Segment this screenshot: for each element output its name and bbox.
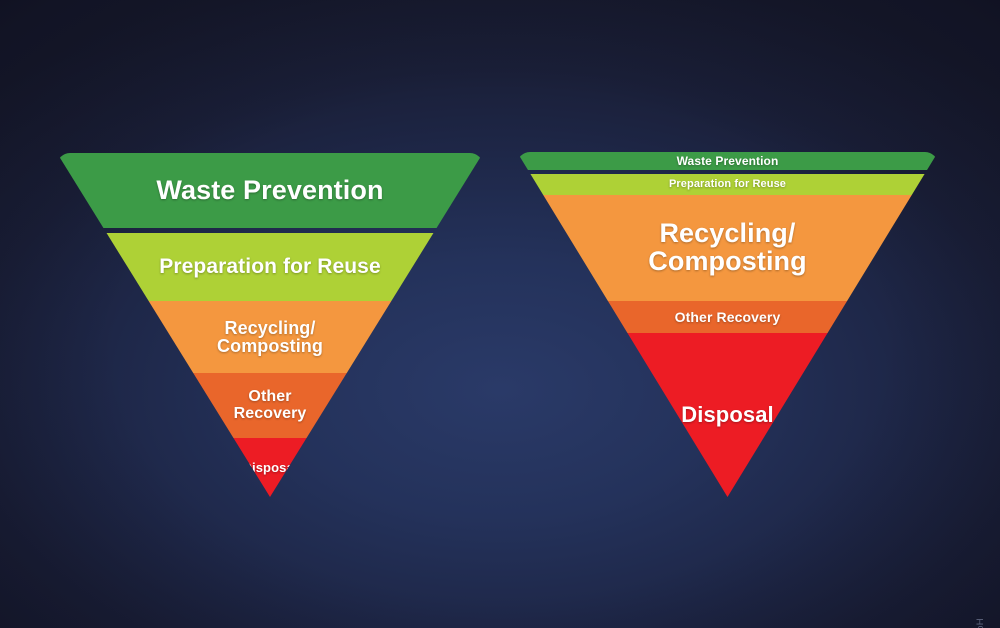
pyramid-band-disposal: Disposal xyxy=(57,438,483,497)
band-label-group: Recycling/Composting xyxy=(648,220,806,275)
pyramid-band-other_recovery: Other Recovery xyxy=(517,301,938,333)
band-label-recycling_composting-line-1: Recycling/ xyxy=(648,220,806,248)
band-label-group: Recycling/Composting xyxy=(217,319,323,356)
pyramid-band-recycling_composting: Recycling/Composting xyxy=(57,301,483,373)
band-label-group: Other Recovery xyxy=(675,310,781,324)
band-label-group: Waste Prevention xyxy=(677,155,779,167)
pyramid-band-other_recovery: OtherRecovery xyxy=(57,373,483,438)
band-label-waste_prevention: Waste Prevention xyxy=(677,155,779,167)
pyramid-band-preparation_for_reuse: Preparation for Reuse xyxy=(517,174,938,195)
band-label-preparation_for_reuse: Preparation for Reuse xyxy=(669,179,786,190)
waste-hierarchy-infographic: Waste PreventionPreparation for ReuseRec… xyxy=(0,0,1000,628)
band-label-group: Waste Prevention xyxy=(156,177,383,205)
pyramid-band-preparation_for_reuse: Preparation for Reuse xyxy=(57,233,483,301)
copyright-credit: © WasteCulture.com / WtERT Germany GmbH xyxy=(975,618,986,628)
band-label-recycling_composting-line-2: Composting xyxy=(648,248,806,276)
band-label-group: Preparation for Reuse xyxy=(159,256,381,277)
band-label-group: Disposal xyxy=(243,461,298,474)
band-label-waste_prevention: Waste Prevention xyxy=(156,177,383,205)
pyramid-band-disposal: Disposal xyxy=(517,333,938,497)
pyramid-band-waste_prevention: Waste Prevention xyxy=(517,152,938,170)
inverted-pyramid-actual: Waste PreventionPreparation for ReuseRec… xyxy=(517,152,938,497)
band-label-recycling_composting-line-2: Composting xyxy=(217,337,323,355)
band-label-other_recovery-line-2: Recovery xyxy=(234,406,307,422)
band-label-other_recovery-line-1: Other xyxy=(234,389,307,405)
pyramid-band-waste_prevention: Waste Prevention xyxy=(57,153,483,228)
band-label-group: Disposal xyxy=(681,404,774,426)
inverted-pyramid-ideal: Waste PreventionPreparation for ReuseRec… xyxy=(57,153,483,497)
pyramid-band-recycling_composting: Recycling/Composting xyxy=(517,195,938,301)
band-label-group: OtherRecovery xyxy=(234,389,307,422)
band-label-disposal: Disposal xyxy=(243,461,298,474)
band-label-disposal: Disposal xyxy=(681,404,774,426)
band-label-group: Preparation for Reuse xyxy=(669,179,786,190)
band-label-preparation_for_reuse: Preparation for Reuse xyxy=(159,256,381,277)
band-label-recycling_composting-line-1: Recycling/ xyxy=(217,319,323,337)
band-label-other_recovery: Other Recovery xyxy=(675,310,781,324)
